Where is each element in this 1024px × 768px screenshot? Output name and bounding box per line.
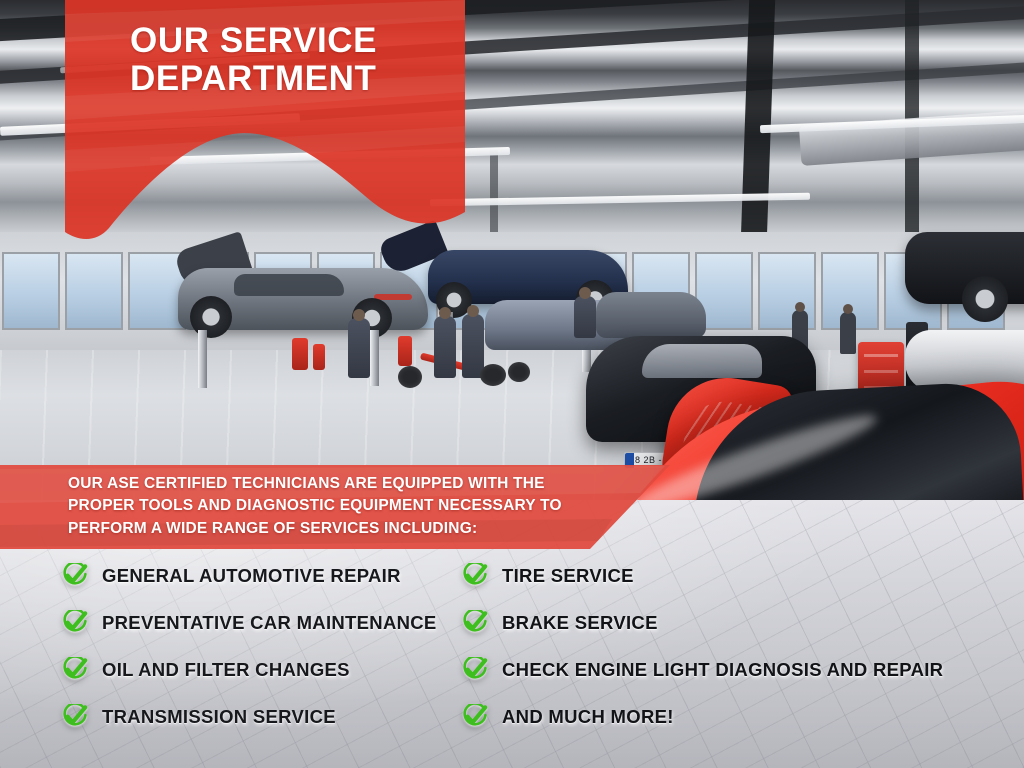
service-label: GENERAL AUTOMOTIVE REPAIR (102, 565, 401, 587)
check-mark-icon (462, 563, 488, 589)
check-mark-icon (62, 657, 88, 683)
service-item: TIRE SERVICE (462, 552, 1002, 599)
service-label: OIL AND FILTER CHANGES (102, 659, 350, 681)
check-mark-icon (62, 610, 88, 636)
red-jack-stand (398, 336, 412, 366)
tire (480, 364, 506, 386)
service-label: CHECK ENGINE LIGHT DIAGNOSIS AND REPAIR (502, 659, 943, 681)
person (840, 312, 856, 354)
window-pane (65, 252, 123, 330)
car-windshield (642, 344, 762, 378)
service-label: TRANSMISSION SERVICE (102, 706, 336, 728)
service-item: BRAKE SERVICE (462, 599, 1002, 646)
car-wheel (190, 296, 232, 338)
car-wheel (962, 276, 1008, 322)
technician (434, 316, 456, 378)
car-window (234, 274, 344, 296)
service-item: GENERAL AUTOMOTIVE REPAIR (62, 552, 482, 599)
dark-hatchback (596, 292, 706, 338)
tire (398, 366, 422, 388)
service-item: TRANSMISSION SERVICE (62, 693, 482, 740)
window-pane (2, 252, 60, 330)
service-label: TIRE SERVICE (502, 565, 634, 587)
technician (462, 314, 484, 378)
check-mark-icon (462, 657, 488, 683)
red-jack-stand (292, 338, 308, 370)
technician (574, 296, 596, 338)
service-item: CHECK ENGINE LIGHT DIAGNOSIS AND REPAIR (462, 646, 1002, 693)
service-department-poster: E8 2B - UAJ OUR SERVICE DEPARTMENT (0, 0, 1024, 768)
service-item: OIL AND FILTER CHANGES (62, 646, 482, 693)
service-item: PREVENTATIVE CAR MAINTENANCE (62, 599, 482, 646)
check-mark-icon (62, 704, 88, 730)
red-jack-stand (313, 344, 325, 370)
services-list: GENERAL AUTOMOTIVE REPAIR PREVENTATIVE C… (0, 552, 1024, 742)
check-mark-icon (462, 704, 488, 730)
plate-eu-band (625, 453, 634, 468)
tire (508, 362, 530, 382)
service-label: BRAKE SERVICE (502, 612, 658, 634)
check-mark-icon (62, 563, 88, 589)
lift-post (370, 330, 379, 386)
service-label: AND MUCH MORE! (502, 706, 674, 728)
service-label: PREVENTATIVE CAR MAINTENANCE (102, 612, 437, 634)
check-mark-icon (462, 610, 488, 636)
lift-post (198, 330, 207, 388)
services-right-column: TIRE SERVICE BRAKE SERVICE (462, 552, 1002, 740)
technician (348, 318, 370, 378)
service-item: AND MUCH MORE! (462, 693, 1002, 740)
services-left-column: GENERAL AUTOMOTIVE REPAIR PREVENTATIVE C… (62, 552, 482, 740)
garage-photo: E8 2B - UAJ (0, 0, 1024, 500)
